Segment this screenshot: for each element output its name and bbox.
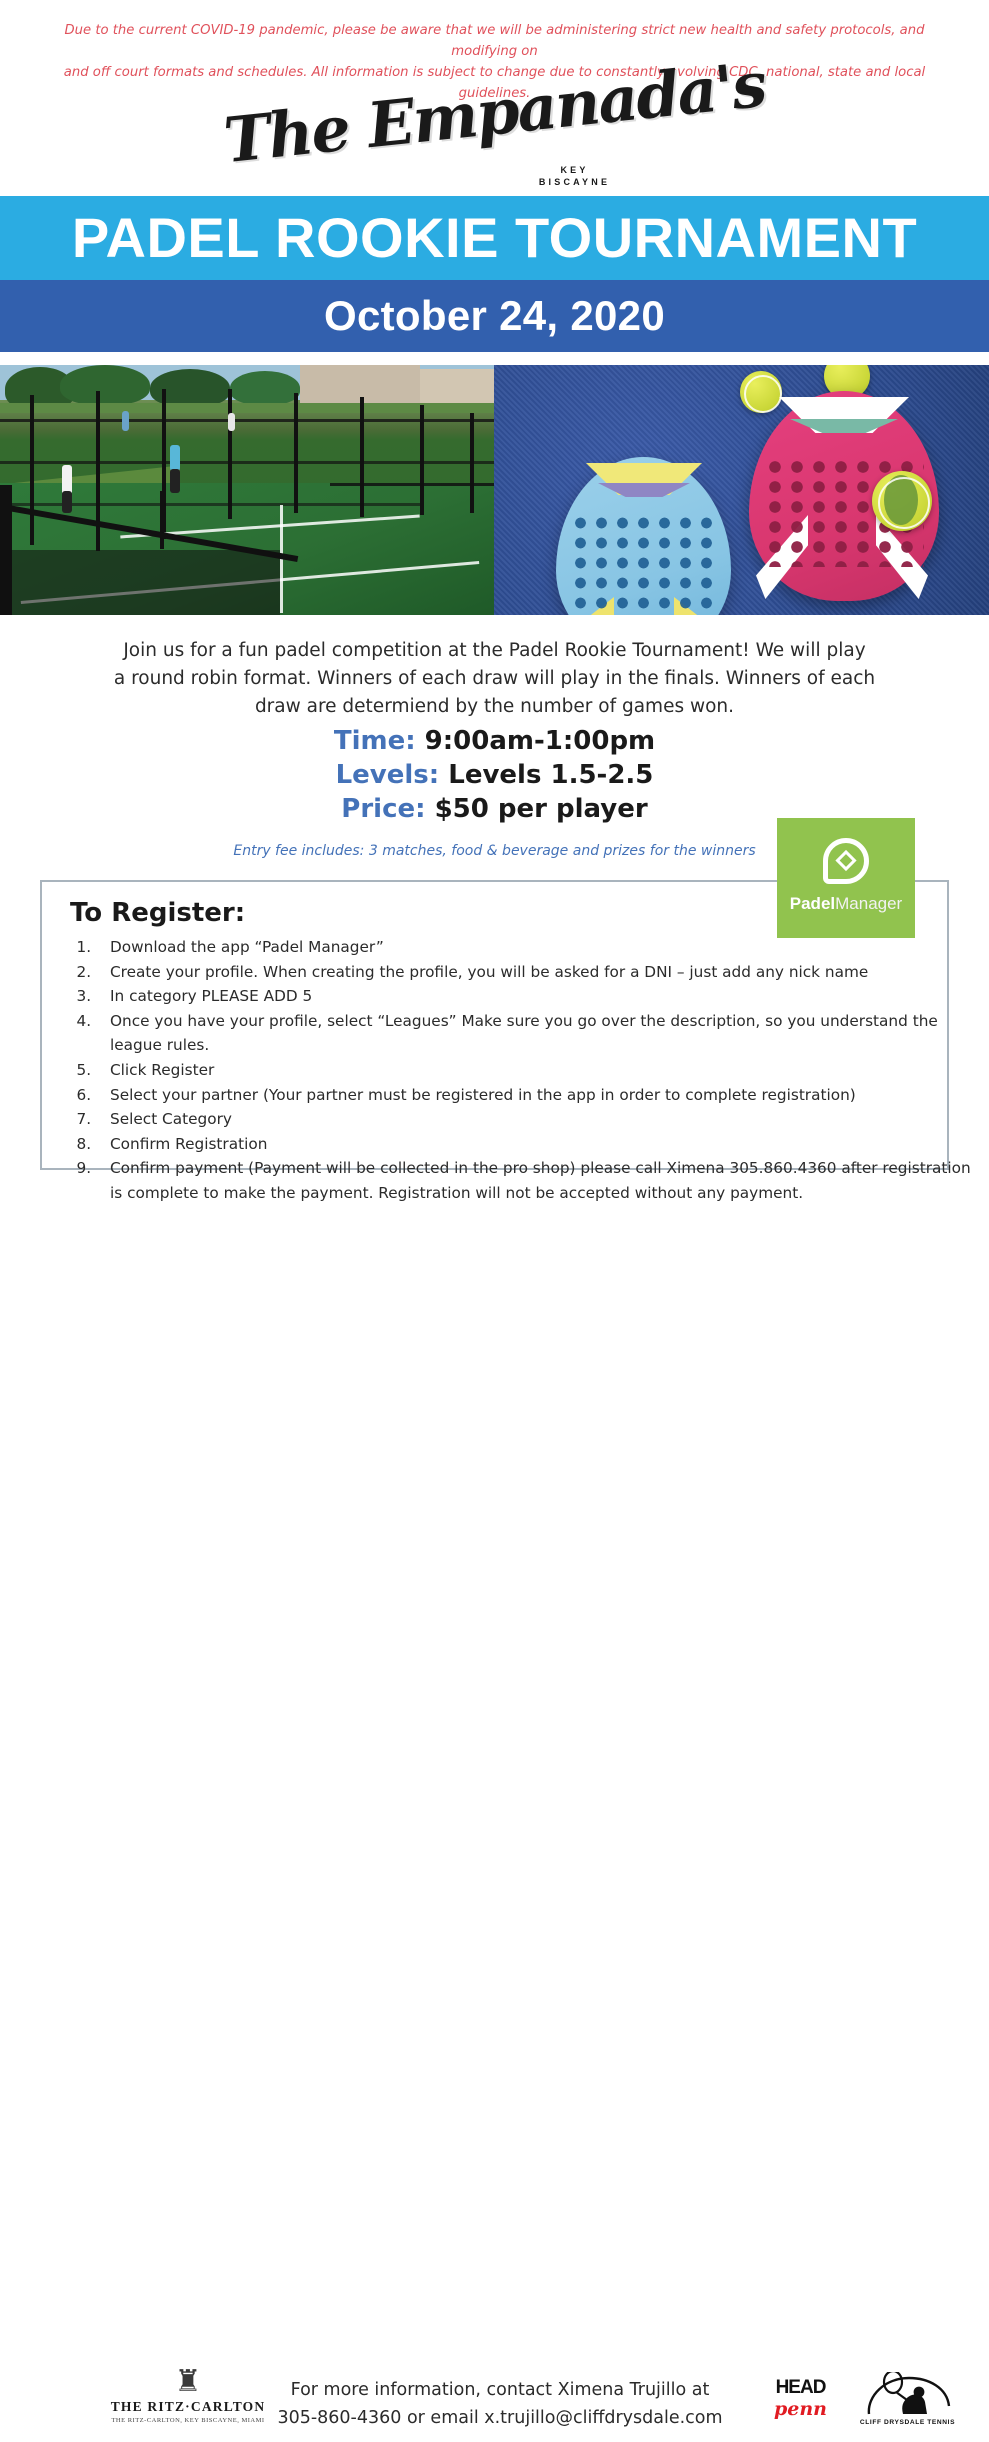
detail-price-value: $50 per player bbox=[435, 794, 648, 824]
date-banner: October 24, 2020 bbox=[0, 280, 989, 352]
padel-rackets-photo bbox=[494, 365, 989, 615]
detail-levels-label: Levels: bbox=[336, 760, 440, 790]
event-details: Time: 9:00am-1:00pm Levels: Levels 1.5-2… bbox=[0, 724, 989, 826]
head-wordmark: HEAD bbox=[753, 2378, 848, 2398]
event-date: October 24, 2020 bbox=[324, 295, 665, 337]
intro-line-3: draw are determiend by the number of gam… bbox=[86, 693, 903, 721]
padel-manager-wordmark-light: Manager bbox=[835, 894, 902, 913]
list-item: Create your profile. When creating the p… bbox=[96, 960, 976, 985]
page-title: PADEL ROOKIE TOURNAMENT bbox=[72, 210, 917, 266]
list-item: Select Category bbox=[96, 1107, 976, 1132]
head-penn-logo: HEAD penn bbox=[753, 2378, 848, 2420]
register-title: To Register: bbox=[70, 898, 245, 928]
detail-levels: Levels: Levels 1.5-2.5 bbox=[0, 758, 989, 792]
contact-line-2: 305-860-4360 or email x.trujillo@cliffdr… bbox=[270, 2404, 730, 2432]
ritz-carlton-logo: ♜ THE RITZ·CARLTON THE RITZ-CARLTON, KEY… bbox=[88, 2366, 288, 2426]
intro-line-2: a round robin format. Winners of each dr… bbox=[86, 665, 903, 693]
penn-wordmark: penn bbox=[753, 2398, 848, 2420]
sponsor-logos: HEAD penn CLIFF DRYSDALE TENNIS bbox=[745, 2372, 965, 2442]
empanadas-logo-sub: KEY BISCAYNE bbox=[0, 164, 989, 188]
photo-strip bbox=[0, 365, 989, 615]
list-item: In category PLEASE ADD 5 bbox=[96, 984, 976, 1009]
tennis-player-icon bbox=[863, 2372, 953, 2418]
padel-court-photo bbox=[0, 365, 494, 615]
intro-paragraph: Join us for a fun padel competition at t… bbox=[86, 637, 903, 721]
empanadas-logo-sub-line-2: BISCAYNE bbox=[160, 176, 989, 188]
list-item: Download the app “Padel Manager” bbox=[96, 935, 976, 960]
intro-line-1: Join us for a fun padel competition at t… bbox=[86, 637, 903, 665]
list-item: Click Register bbox=[96, 1058, 976, 1083]
list-item: Select your partner (Your partner must b… bbox=[96, 1083, 976, 1108]
detail-time-value: 9:00am-1:00pm bbox=[425, 726, 655, 756]
contact-line-1: For more information, contact Ximena Tru… bbox=[270, 2376, 730, 2404]
empanadas-logo: The Empanada's KEY BISCAYNE bbox=[0, 76, 989, 192]
title-banner: PADEL ROOKIE TOURNAMENT bbox=[0, 196, 989, 280]
ritz-carlton-name: THE RITZ·CARLTON bbox=[88, 2398, 288, 2416]
flyer-page: Due to the current COVID-19 pandemic, pl… bbox=[0, 0, 989, 1280]
padel-manager-wordmark-bold: Padel bbox=[790, 894, 835, 913]
contact-info: For more information, contact Ximena Tru… bbox=[270, 2376, 730, 2432]
detail-time-label: Time: bbox=[334, 726, 416, 756]
detail-price-label: Price: bbox=[341, 794, 425, 824]
cliff-drysdale-wordmark: CLIFF DRYSDALE TENNIS bbox=[855, 2418, 960, 2428]
empanadas-logo-sub-line-1: KEY bbox=[160, 164, 989, 176]
list-item: Once you have your profile, select “Leag… bbox=[96, 1009, 976, 1058]
lion-crown-icon: ♜ bbox=[88, 2366, 288, 2398]
detail-levels-value: Levels 1.5-2.5 bbox=[448, 760, 653, 790]
ritz-carlton-location: THE RITZ-CARLTON, KEY BISCAYNE, MIAMI bbox=[88, 2416, 288, 2426]
detail-time: Time: 9:00am-1:00pm bbox=[0, 724, 989, 758]
padel-manager-wordmark: PadelManager bbox=[777, 894, 915, 914]
footer: ♜ THE RITZ·CARLTON THE RITZ-CARLTON, KEY… bbox=[0, 1180, 989, 1280]
padel-manager-logo: PadelManager bbox=[777, 818, 915, 938]
register-steps-list: Download the app “Padel Manager” Create … bbox=[62, 935, 976, 1206]
cliff-drysdale-logo: CLIFF DRYSDALE TENNIS bbox=[855, 2372, 960, 2428]
list-item: Confirm Registration bbox=[96, 1132, 976, 1157]
